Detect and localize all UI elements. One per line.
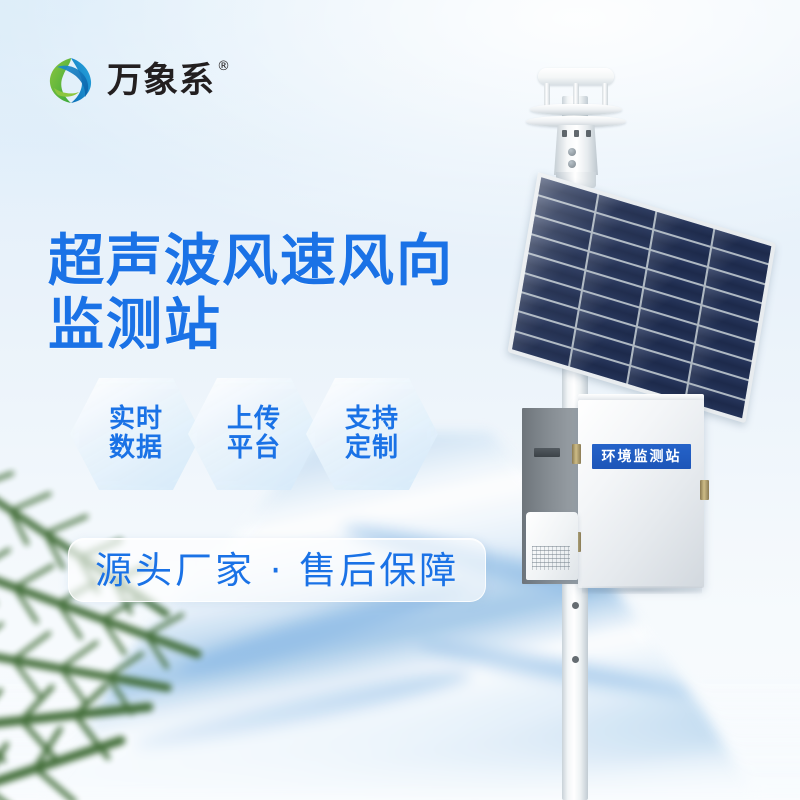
tagline-text: 源头厂家 · 售后保障 xyxy=(95,552,459,589)
sensor-disc xyxy=(530,104,622,115)
sensor-transducer-port xyxy=(574,130,579,137)
globe-swirl-icon xyxy=(45,55,97,107)
cabinet-label: 环境监测站 xyxy=(592,444,691,469)
sensor-support-post xyxy=(602,83,608,107)
cabinet-label-text: 环境监测站 xyxy=(602,450,682,464)
cabinet-louver-box xyxy=(526,512,578,580)
sensor-transducer-port xyxy=(586,130,591,137)
sensor-transducer-port xyxy=(562,130,567,137)
brand-name-text: 万象系 xyxy=(107,61,215,101)
cabinet-vent-icon xyxy=(534,448,560,457)
badge-realtime-data: 实时 数据 xyxy=(70,378,202,490)
pole-bolt-icon xyxy=(572,656,579,663)
badge-label: 支持 定制 xyxy=(345,405,399,463)
product-poster: 环境监测站 xyxy=(0,0,800,800)
pole-bolt-icon xyxy=(572,602,579,609)
page-title: 超声波风速风向 监测站 xyxy=(48,230,454,360)
cabinet-hinge-icon xyxy=(572,444,581,464)
solar-panel-assembly xyxy=(520,168,780,373)
equipment-cabinet: 环境监测站 xyxy=(512,392,722,598)
sensor-indicator-icon xyxy=(568,160,576,168)
badge-custom-support: 支持 定制 xyxy=(306,378,438,490)
badge-label: 实时 数据 xyxy=(109,405,163,463)
sensor-indicator-icon xyxy=(568,148,576,156)
cabinet-latch-icon xyxy=(700,480,709,500)
brand-name: 万象系 ® xyxy=(107,64,215,99)
registered-mark-icon: ® xyxy=(217,60,231,73)
feature-badges: 实时 数据 上传 平台 支持 定制 xyxy=(70,378,424,490)
cabinet-front-door xyxy=(578,400,704,588)
badge-label: 上传 平台 xyxy=(227,405,281,463)
tagline-pill: 源头厂家 · 售后保障 xyxy=(68,538,486,602)
sensor-support-post xyxy=(544,83,550,107)
cabinet-shadow xyxy=(582,586,702,594)
badge-upload-platform: 上传 平台 xyxy=(188,378,320,490)
louver-grille-icon xyxy=(532,546,570,570)
brand-logo: 万象系 ® xyxy=(45,55,215,107)
